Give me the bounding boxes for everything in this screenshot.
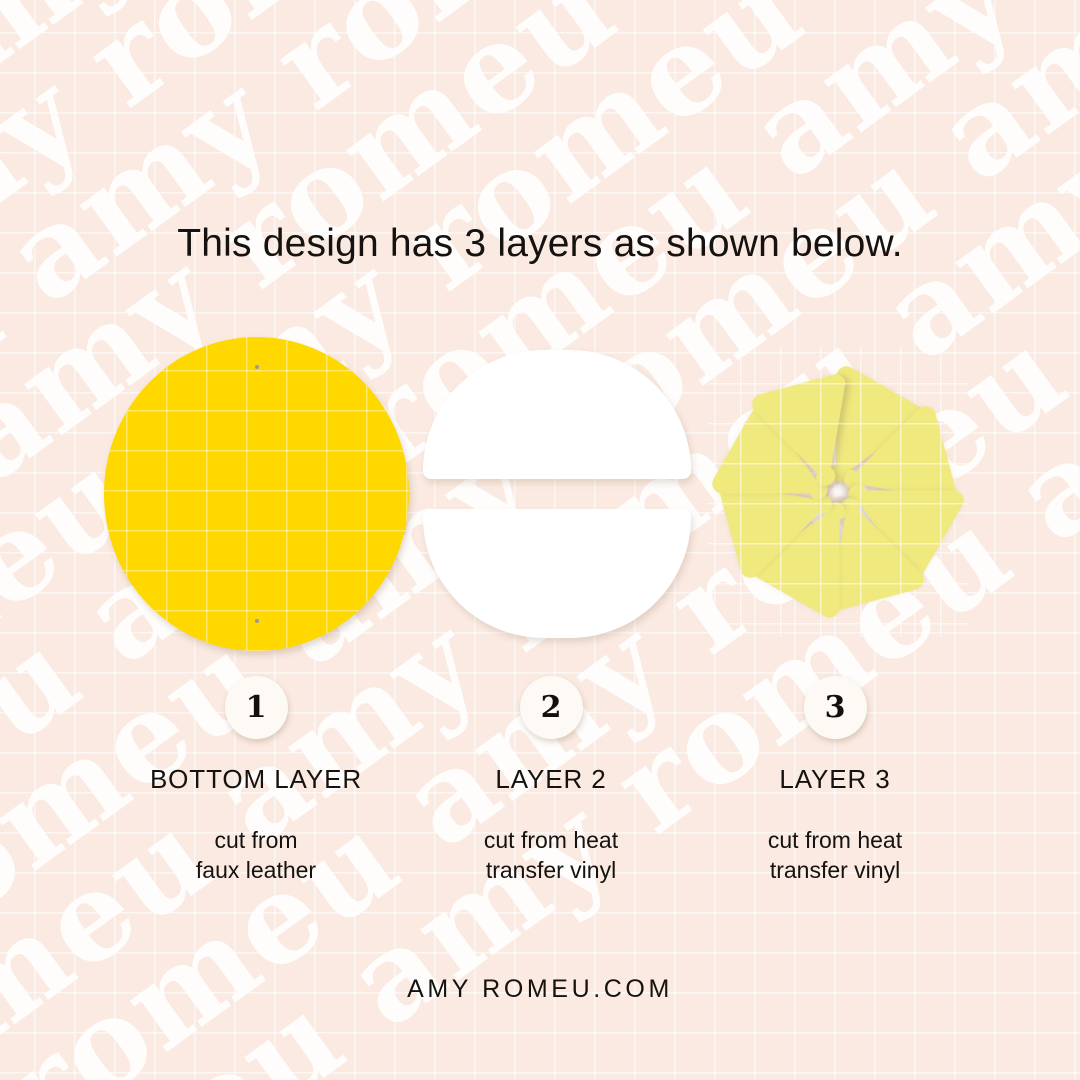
half-circle-top <box>423 350 691 479</box>
watermark-row: amy romeu amy romeu amy romeu amy romeu … <box>0 0 833 439</box>
layer-3-description-line-1: cut from heat <box>685 825 985 855</box>
layer-1-caption-column: 1 BOTTOM LAYER cut from faux leather <box>106 676 406 886</box>
registration-dot-bottom <box>255 619 259 623</box>
page-title: This design has 3 layers as shown below. <box>0 222 1080 266</box>
footer-brand: AMY ROMEU.COM <box>0 975 1080 1004</box>
layer-3-artwork-citrus-wedges <box>714 353 962 631</box>
layer-1-description-line-1: cut from <box>106 825 406 855</box>
layer-1-artwork-ellipse <box>104 337 409 651</box>
registration-dot-top <box>255 365 259 369</box>
layer-2-artwork-half-circles <box>423 350 691 638</box>
layer-1-description-line-2: faux leather <box>106 855 406 885</box>
layer-2-description-line-2: transfer vinyl <box>401 855 701 885</box>
design-preview-canvas: amy romeu amy romeu amy romeu amy romeu … <box>0 0 1080 1080</box>
layer-3-description-line-2: transfer vinyl <box>685 855 985 885</box>
layer-2-description: cut from heat transfer vinyl <box>401 825 701 886</box>
layer-3-badge: 3 <box>804 676 867 739</box>
layer-2-caption-column: 2 LAYER 2 cut from heat transfer vinyl <box>401 676 701 886</box>
layer-2-name: LAYER 2 <box>401 764 701 795</box>
layer-1-description: cut from faux leather <box>106 825 406 886</box>
layer-1-grid-overlay <box>104 337 409 651</box>
citrus-wedges-svg <box>714 353 962 631</box>
half-circle-bottom <box>423 509 691 638</box>
layer-3-name: LAYER 3 <box>685 764 985 795</box>
layer-3-caption-column: 3 LAYER 3 cut from heat transfer vinyl <box>685 676 985 886</box>
layer-1-badge: 1 <box>225 676 288 739</box>
layer-1-name: BOTTOM LAYER <box>106 764 406 795</box>
layer-2-description-line-1: cut from heat <box>401 825 701 855</box>
layer-2-badge: 2 <box>520 676 583 739</box>
layer-3-description: cut from heat transfer vinyl <box>685 825 985 886</box>
